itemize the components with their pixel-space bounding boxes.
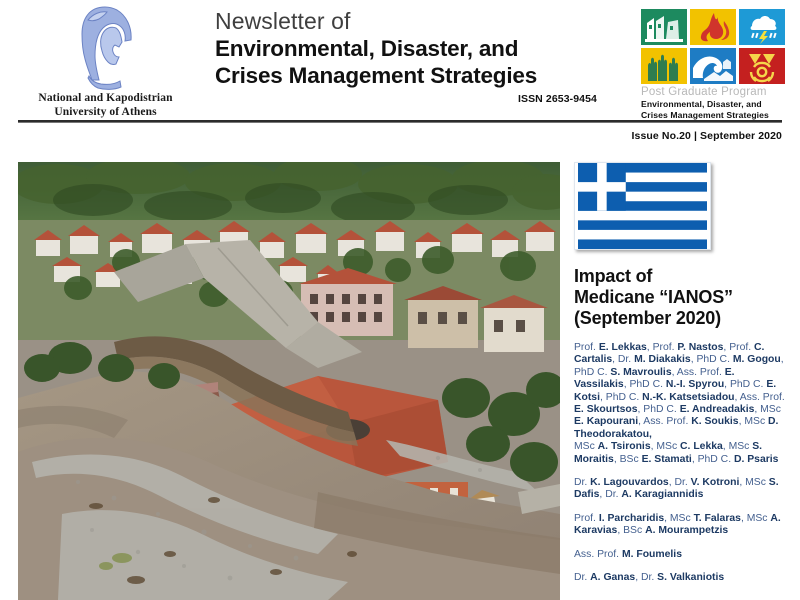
author-group: Dr. K. Lagouvardos, Dr. V. Kotroni, MSc … — [574, 477, 786, 502]
aerial-flood-damage-photo — [18, 162, 560, 600]
university-logo-block: National and Kapodistrian University of … — [18, 4, 193, 119]
program-caption-top: Post Graduate Program — [641, 86, 789, 99]
article-column: Impact of Medicane “IANOS” (September 20… — [574, 162, 786, 596]
author-group: Prof. E. Lekkas, Prof. P. Nastos, Prof. … — [574, 342, 786, 466]
issue-number-label: Issue No.20 | September 2020 — [632, 130, 782, 142]
earthquake-damaged-building-icon — [641, 9, 687, 45]
author-group: Dr. A. Ganas, Dr. S. Valkaniotis — [574, 572, 786, 584]
biohazard-radiation-icon — [739, 48, 785, 84]
article-title-line3: (September 2020) — [574, 308, 721, 328]
flood-wave-icon — [690, 48, 736, 84]
program-caption-line2: Crises Management Strategies — [641, 110, 789, 121]
athena-head-icon — [75, 4, 137, 90]
article-title-line1: Impact of — [574, 266, 652, 286]
page-header: National and Kapodistrian University of … — [0, 0, 800, 122]
fire-flame-icon — [690, 9, 736, 45]
issn-label: ISSN 2653-9454 — [215, 93, 615, 105]
newsletter-title-block: Newsletter of Environmental, Disaster, a… — [215, 8, 615, 105]
author-group: Ass. Prof. M. Foumelis — [574, 549, 786, 561]
author-group: Prof. I. Parcharidis, MSc T. Falaras, MS… — [574, 513, 786, 538]
storm-cloud-lightning-icon — [739, 9, 785, 45]
article-title-line2: Medicane “IANOS” — [574, 287, 733, 307]
postgraduate-program-logo: Post Graduate Program Environmental, Dis… — [641, 9, 789, 120]
header-divider — [18, 120, 782, 123]
program-icon-grid — [641, 9, 789, 84]
newsletter-title-line1: Environmental, Disaster, and — [215, 35, 615, 62]
newsletter-prefix: Newsletter of — [215, 8, 615, 35]
newsletter-title-line2: Crises Management Strategies — [215, 62, 615, 89]
raised-hands-crowd-icon — [641, 48, 687, 84]
university-name: National and Kapodistrian University of … — [18, 92, 193, 119]
author-list: Prof. E. Lekkas, Prof. P. Nastos, Prof. … — [574, 342, 786, 585]
article-title: Impact of Medicane “IANOS” (September 20… — [574, 266, 786, 329]
program-caption-line1: Environmental, Disaster, and — [641, 99, 789, 110]
greek-flag-icon — [574, 162, 711, 250]
